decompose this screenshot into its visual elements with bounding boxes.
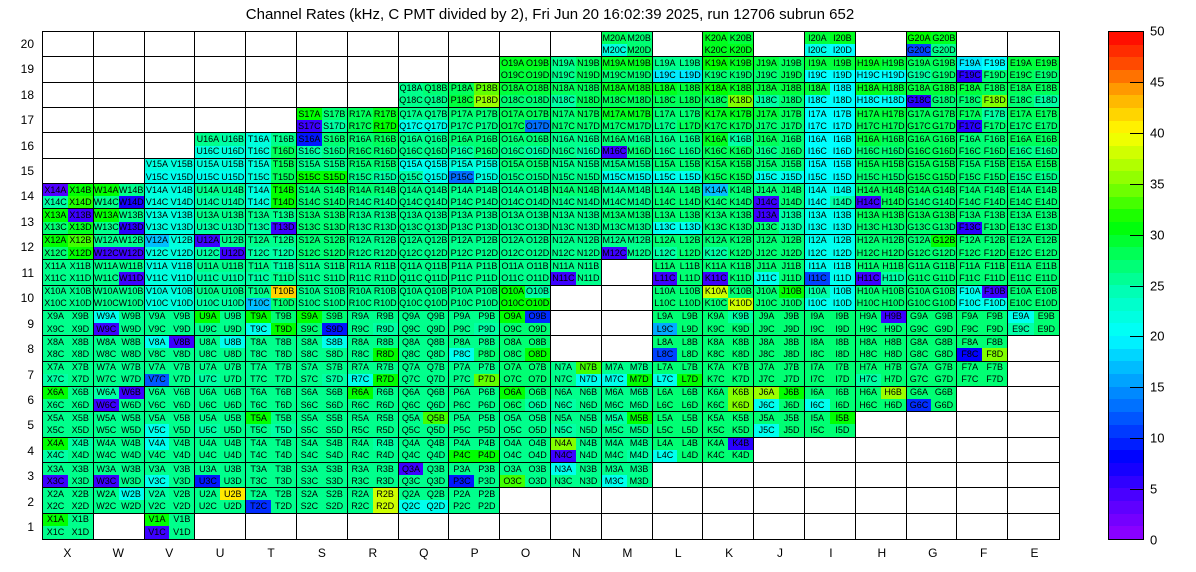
channel-T7C: T7C — [246, 374, 271, 386]
channel-empty — [94, 120, 119, 132]
channel-empty — [830, 475, 855, 487]
channel-R10D: R10D — [373, 298, 398, 310]
channel-I6C: I6C — [805, 399, 830, 411]
channel-empty — [627, 311, 652, 323]
channel-empty — [703, 514, 728, 527]
channel-G6D: G6D — [931, 399, 956, 411]
channel-T12D: T12D — [271, 247, 296, 259]
channel-O7B: O7B — [525, 362, 550, 374]
grid-cell-M5: M5AM5BM5CM5D — [602, 412, 653, 437]
channel-I10C: I10C — [805, 298, 830, 310]
channel-R11A: R11A — [348, 260, 373, 272]
channel-E11D: E11D — [1034, 272, 1059, 284]
channel-W10C: W10C — [94, 298, 119, 310]
channel-R9A: R9A — [348, 311, 373, 323]
channel-N6D: N6D — [576, 399, 601, 411]
channel-empty — [931, 424, 956, 436]
channel-empty — [297, 83, 322, 95]
channel-Q5A: Q5A — [399, 412, 424, 424]
channel-empty — [271, 95, 296, 107]
channel-G19C: G19C — [907, 70, 932, 82]
channel-empty — [119, 159, 144, 171]
channel-R2D: R2D — [373, 500, 398, 512]
channel-Q11D: Q11D — [423, 272, 448, 284]
channel-R16B: R16B — [373, 133, 398, 145]
channel-empty — [754, 475, 779, 487]
channel-H12C: H12C — [856, 247, 881, 259]
channel-empty — [728, 526, 753, 539]
channel-P6B: P6B — [474, 387, 499, 399]
grid-cell-H10: H10AH10BH10CH10D — [856, 286, 907, 311]
channel-N16B: N16B — [576, 133, 601, 145]
channel-M3A: M3A — [602, 463, 627, 475]
grid-cell-W15 — [94, 159, 145, 184]
grid-cell-G6: G6AG6BG6CG6D — [907, 387, 958, 412]
channel-empty — [1008, 387, 1033, 399]
channel-F16D: F16D — [982, 146, 1007, 158]
channel-X3C: X3C — [43, 475, 68, 487]
channel-F16B: F16B — [982, 133, 1007, 145]
channel-O10D: O10D — [525, 298, 550, 310]
channel-empty — [271, 526, 296, 539]
channel-empty — [703, 500, 728, 512]
channel-K19B: K19B — [728, 57, 753, 69]
grid-cell-M9 — [602, 311, 653, 336]
channel-Q9A: Q9A — [399, 311, 424, 323]
channel-I11B: I11B — [830, 260, 855, 272]
channel-I19D: I19D — [830, 70, 855, 82]
channel-empty — [348, 526, 373, 539]
grid-cell-V3: V3AV3BV3CV3D — [145, 463, 196, 488]
channel-G14D: G14D — [931, 196, 956, 208]
channel-X10C: X10C — [43, 298, 68, 310]
channel-N11C: N11C — [551, 272, 576, 284]
channel-empty — [169, 146, 194, 158]
channel-empty — [271, 70, 296, 82]
channel-Q9C: Q9C — [399, 323, 424, 335]
channel-T14D: T14D — [271, 196, 296, 208]
channel-S15B: S15B — [322, 159, 347, 171]
channel-X7D: X7D — [68, 374, 93, 386]
grid-cell-L12: L12AL12BL12CL12D — [653, 235, 704, 260]
grid-cell-N7: N7AN7BN7CN7D — [551, 362, 602, 387]
grid-cell-V2: V2AV2BV2CV2D — [145, 488, 196, 513]
channel-L8C: L8C — [653, 348, 678, 360]
channel-empty — [195, 83, 220, 95]
channel-U5D: U5D — [220, 424, 245, 436]
channel-T15D: T15D — [271, 171, 296, 183]
channel-empty — [907, 488, 932, 500]
y-axis-tick-13: 13 — [4, 215, 34, 229]
channel-empty — [500, 500, 525, 512]
channel-R11C: R11C — [348, 272, 373, 284]
channel-K6A: K6A — [703, 387, 728, 399]
grid-cell-P3: P3AP3BP3CP3D — [449, 463, 500, 488]
grid-cell-N5: N5AN5BN5CN5D — [551, 412, 602, 437]
grid-cell-K18: K18AK18BK18CK18D — [703, 83, 754, 108]
channel-empty — [830, 463, 855, 475]
channel-J7A: J7A — [754, 362, 779, 374]
grid-cell-L6: L6AL6BL6CL6D — [653, 387, 704, 412]
channel-empty — [169, 32, 194, 44]
grid-cell-R15: R15AR15BR15CR15D — [348, 159, 399, 184]
channel-K6C: K6C — [703, 399, 728, 411]
channel-E13B: E13B — [1034, 209, 1059, 221]
channel-empty — [982, 44, 1007, 56]
channel-J10C: J10C — [754, 298, 779, 310]
grid-cell-R4: R4AR4BR4CR4D — [348, 438, 399, 463]
channel-T16D: T16D — [271, 146, 296, 158]
channel-P6C: P6C — [449, 399, 474, 411]
channel-S8C: S8C — [297, 348, 322, 360]
channel-F16C: F16C — [957, 146, 982, 158]
channel-V9A: V9A — [145, 311, 170, 323]
channel-M16B: M16B — [627, 133, 652, 145]
channel-empty — [931, 514, 956, 527]
channel-empty — [1034, 488, 1059, 500]
channel-W2A: W2A — [94, 488, 119, 500]
channel-L11B: L11B — [677, 260, 702, 272]
channel-V15C: V15C — [145, 171, 170, 183]
channel-empty — [145, 83, 170, 95]
grid-cell-E1 — [1008, 514, 1059, 539]
channel-T12B: T12B — [271, 235, 296, 247]
channel-empty — [246, 95, 271, 107]
grid-cell-W14: W14AW14BW14CW14D — [94, 184, 145, 209]
channel-J9D: J9D — [779, 323, 804, 335]
channel-W6A: W6A — [94, 387, 119, 399]
channel-empty — [68, 120, 93, 132]
grid-cell-R3: R3AR3BR3CR3D — [348, 463, 399, 488]
colorbar-segment — [1109, 57, 1143, 70]
grid-cell-H8: H8AH8BH8CH8D — [856, 336, 907, 361]
channel-I7B: I7B — [830, 362, 855, 374]
grid-cell-N1 — [551, 514, 602, 539]
channel-R5A: R5A — [348, 412, 373, 424]
channel-S4B: S4B — [322, 438, 347, 450]
grid-cell-L9: L9AL9BL9CL9D — [653, 311, 704, 336]
channel-S3B: S3B — [322, 463, 347, 475]
channel-T2A: T2A — [246, 488, 271, 500]
channel-L19B: L19B — [677, 57, 702, 69]
channel-R6D: R6D — [373, 399, 398, 411]
channel-O14C: O14C — [500, 196, 525, 208]
channel-P16B: P16B — [474, 133, 499, 145]
channel-I18B: I18B — [830, 83, 855, 95]
channel-H10C: H10C — [856, 298, 881, 310]
channel-U3D: U3D — [220, 475, 245, 487]
channel-M20C: M20C — [602, 44, 627, 56]
channel-L17B: L17B — [677, 108, 702, 120]
channel-S14B: S14B — [322, 184, 347, 196]
channel-I13D: I13D — [830, 222, 855, 234]
channel-empty — [68, 57, 93, 69]
channel-U4D: U4D — [220, 450, 245, 462]
colorbar-tick-mark — [1130, 286, 1144, 287]
channel-empty — [805, 526, 830, 539]
channel-V1D: V1D — [169, 526, 194, 539]
grid-cell-R16: R16AR16BR16CR16D — [348, 133, 399, 158]
channel-N16C: N16C — [551, 146, 576, 158]
channel-X1D: X1D — [68, 526, 93, 539]
y-axis-tick-18: 18 — [4, 88, 34, 102]
channel-empty — [1034, 514, 1059, 527]
channel-F10A: F10A — [957, 286, 982, 298]
channel-R3B: R3B — [373, 463, 398, 475]
channel-S12C: S12C — [297, 247, 322, 259]
channel-R3D: R3D — [373, 475, 398, 487]
channel-N5D: N5D — [576, 424, 601, 436]
channel-G17B: G17B — [931, 108, 956, 120]
channel-I17D: I17D — [830, 120, 855, 132]
grid-cell-H14: H14AH14BH14CH14D — [856, 184, 907, 209]
channel-empty — [805, 475, 830, 487]
grid-cell-U19 — [195, 57, 246, 82]
channel-W9B: W9B — [119, 311, 144, 323]
grid-cell-P5: P5AP5BP5CP5D — [449, 412, 500, 437]
channel-U16D: U16D — [220, 146, 245, 158]
grid-cell-H16: H16AH16BH16CH16D — [856, 133, 907, 158]
channel-L13B: L13B — [677, 209, 702, 221]
channel-I16A: I16A — [805, 133, 830, 145]
channel-X12B: X12B — [68, 235, 93, 247]
channel-P17D: P17D — [474, 120, 499, 132]
channel-H11A: H11A — [856, 260, 881, 272]
channel-empty — [246, 514, 271, 527]
channel-O18A: O18A — [500, 83, 525, 95]
channel-empty — [474, 32, 499, 44]
grid-cell-K2 — [703, 488, 754, 513]
channel-empty — [1034, 463, 1059, 475]
grid-cell-K11: K11AK11BK11CK11D — [703, 260, 754, 285]
channel-Q17A: Q17A — [399, 108, 424, 120]
grid-cell-H5 — [856, 412, 907, 437]
grid-cell-I19: I19AI19BI19CI19D — [805, 57, 856, 82]
grid-cell-J9: J9AJ9BJ9CJ9D — [754, 311, 805, 336]
channel-empty — [1008, 514, 1033, 527]
channel-T10D: T10D — [271, 298, 296, 310]
channel-X12C: X12C — [43, 247, 68, 259]
colorbar-segment — [1109, 184, 1143, 197]
channel-empty — [931, 438, 956, 450]
grid-cell-P17: P17AP17BP17CP17D — [449, 108, 500, 133]
channel-empty — [856, 526, 881, 539]
grid-cell-L15: L15AL15BL15CL15D — [653, 159, 704, 184]
channel-V13D: V13D — [169, 222, 194, 234]
channel-T3D: T3D — [271, 475, 296, 487]
channel-G10D: G10D — [931, 298, 956, 310]
channel-R4B: R4B — [373, 438, 398, 450]
channel-E18C: E18C — [1008, 95, 1033, 107]
channel-J13D: J13D — [779, 222, 804, 234]
channel-O16C: O16C — [500, 146, 525, 158]
channel-M5D: M5D — [627, 424, 652, 436]
channel-V14D: V14D — [169, 196, 194, 208]
channel-empty — [602, 526, 627, 539]
channel-H19A: H19A — [856, 57, 881, 69]
channel-E15A: E15A — [1008, 159, 1033, 171]
channel-R4A: R4A — [348, 438, 373, 450]
channel-J9C: J9C — [754, 323, 779, 335]
grid-cell-R19 — [348, 57, 399, 82]
channel-empty — [703, 526, 728, 539]
grid-cell-P12: P12AP12BP12CP12D — [449, 235, 500, 260]
grid-cell-M2 — [602, 488, 653, 513]
channel-J16A: J16A — [754, 133, 779, 145]
channel-empty — [779, 463, 804, 475]
channel-E16D: E16D — [1034, 146, 1059, 158]
channel-O8B: O8B — [525, 336, 550, 348]
channel-J17C: J17C — [754, 120, 779, 132]
channel-empty — [677, 488, 702, 500]
grid-cell-M18: M18AM18BM18CM18D — [602, 83, 653, 108]
grid-cell-O2 — [500, 488, 551, 513]
grid-cell-S2: S2AS2BS2CS2D — [297, 488, 348, 513]
channel-W8B: W8B — [119, 336, 144, 348]
y-axis-tick-16: 16 — [4, 139, 34, 153]
grid-cell-V11: V11AV11BV11CV11D — [145, 260, 196, 285]
colorbar-tick-mark — [1130, 438, 1144, 439]
grid-cell-I12: I12AI12BI12CI12D — [805, 235, 856, 260]
channel-R8C: R8C — [348, 348, 373, 360]
grid-cell-U1 — [195, 514, 246, 539]
channel-empty — [373, 83, 398, 95]
y-axis-tick-14: 14 — [4, 189, 34, 203]
channel-O13B: O13B — [525, 209, 550, 221]
channel-empty — [856, 44, 881, 56]
grid-cell-T12: T12AT12BT12CT12D — [246, 235, 297, 260]
grid-cell-I17: I17AI17BI17CI17D — [805, 108, 856, 133]
channel-U3A: U3A — [195, 463, 220, 475]
channel-O19B: O19B — [525, 57, 550, 69]
channel-P4C: P4C — [449, 450, 474, 462]
channel-T8D: T8D — [271, 348, 296, 360]
grid-cell-I1 — [805, 514, 856, 539]
channel-V8C: V8C — [145, 348, 170, 360]
channel-W14C: W14C — [94, 196, 119, 208]
channel-G8B: G8B — [931, 336, 956, 348]
channel-Q9B: Q9B — [423, 311, 448, 323]
channel-empty — [474, 44, 499, 56]
channel-T16A: T16A — [246, 133, 271, 145]
channel-empty — [982, 438, 1007, 450]
grid-cell-E18: E18AE18BE18CE18D — [1008, 83, 1059, 108]
channel-K18D: K18D — [728, 95, 753, 107]
channel-I16C: I16C — [805, 146, 830, 158]
grid-cell-Q17: Q17AQ17BQ17CQ17D — [399, 108, 450, 133]
channel-E15C: E15C — [1008, 171, 1033, 183]
channel-K19A: K19A — [703, 57, 728, 69]
channel-empty — [931, 450, 956, 462]
channel-I12A: I12A — [805, 235, 830, 247]
channel-empty — [1008, 475, 1033, 487]
channel-L8D: L8D — [677, 348, 702, 360]
channel-empty — [271, 83, 296, 95]
channel-P10C: P10C — [449, 298, 474, 310]
channel-X7A: X7A — [43, 362, 68, 374]
channel-M14B: M14B — [627, 184, 652, 196]
channel-empty — [43, 159, 68, 171]
grid-cell-O5: O5AO5BO5CO5D — [500, 412, 551, 437]
channel-I14D: I14D — [830, 196, 855, 208]
channel-M14D: M14D — [627, 196, 652, 208]
channel-K20B: K20B — [728, 32, 753, 44]
channel-empty — [94, 526, 119, 539]
y-axis-tick-15: 15 — [4, 164, 34, 178]
channel-empty — [957, 488, 982, 500]
channel-empty — [145, 57, 170, 69]
channel-P5B: P5B — [474, 412, 499, 424]
channel-empty — [754, 488, 779, 500]
channel-E14A: E14A — [1008, 184, 1033, 196]
grid-cell-S9: S9AS9BS9CS9D — [297, 311, 348, 336]
grid-cell-U7: U7AU7BU7CU7D — [195, 362, 246, 387]
channel-O12C: O12C — [500, 247, 525, 259]
channel-H11B: H11B — [881, 260, 906, 272]
channel-H19D: H19D — [881, 70, 906, 82]
channel-X13C: X13C — [43, 222, 68, 234]
channel-W4B: W4B — [119, 438, 144, 450]
channel-F15C: F15C — [957, 171, 982, 183]
grid-cell-F2 — [957, 488, 1008, 513]
channel-M13D: M13D — [627, 222, 652, 234]
channel-W9C: W9C — [94, 323, 119, 335]
channel-empty — [449, 57, 474, 69]
channel-R2C: R2C — [348, 500, 373, 512]
channel-empty — [525, 514, 550, 527]
channel-W5B: W5B — [119, 412, 144, 424]
channel-empty — [119, 133, 144, 145]
channel-empty — [602, 311, 627, 323]
channel-empty — [551, 298, 576, 310]
channel-M15C: M15C — [602, 171, 627, 183]
grid-cell-P1 — [449, 514, 500, 539]
grid-cell-X3: X3AX3BX3CX3D — [43, 463, 94, 488]
channel-P12A: P12A — [449, 235, 474, 247]
channel-S7B: S7B — [322, 362, 347, 374]
grid-cell-W12: W12AW12BW12CW12D — [94, 235, 145, 260]
grid-cell-N11: N11AN11BN11CN11D — [551, 260, 602, 285]
grid-cell-W17 — [94, 108, 145, 133]
channel-F18A: F18A — [957, 83, 982, 95]
channel-E16C: E16C — [1008, 146, 1033, 158]
channel-empty — [525, 32, 550, 44]
channel-empty — [576, 488, 601, 500]
channel-V2D: V2D — [169, 500, 194, 512]
channel-U9A: U9A — [195, 311, 220, 323]
channel-H7C: H7C — [856, 374, 881, 386]
channel-N7B: N7B — [576, 362, 601, 374]
grid-cell-V1: V1AV1BV1CV1D — [145, 514, 196, 539]
channel-K17D: K17D — [728, 120, 753, 132]
grid-cell-K16: K16AK16BK16CK16D — [703, 133, 754, 158]
channel-K20D: K20D — [728, 44, 753, 56]
channel-L19D: L19D — [677, 70, 702, 82]
channel-K15B: K15B — [728, 159, 753, 171]
channel-empty — [576, 32, 601, 44]
channel-I10A: I10A — [805, 286, 830, 298]
channel-H6A: H6A — [856, 387, 881, 399]
grid-cell-J11: J11AJ11BJ11CJ11D — [754, 260, 805, 285]
grid-cell-E9: E9AE9BE9CE9D — [1008, 311, 1059, 336]
channel-R13D: R13D — [373, 222, 398, 234]
channel-Q12A: Q12A — [399, 235, 424, 247]
channel-empty — [1008, 463, 1033, 475]
channel-M15B: M15B — [627, 159, 652, 171]
channel-V3B: V3B — [169, 463, 194, 475]
channel-U10C: U10C — [195, 298, 220, 310]
channel-empty — [322, 526, 347, 539]
